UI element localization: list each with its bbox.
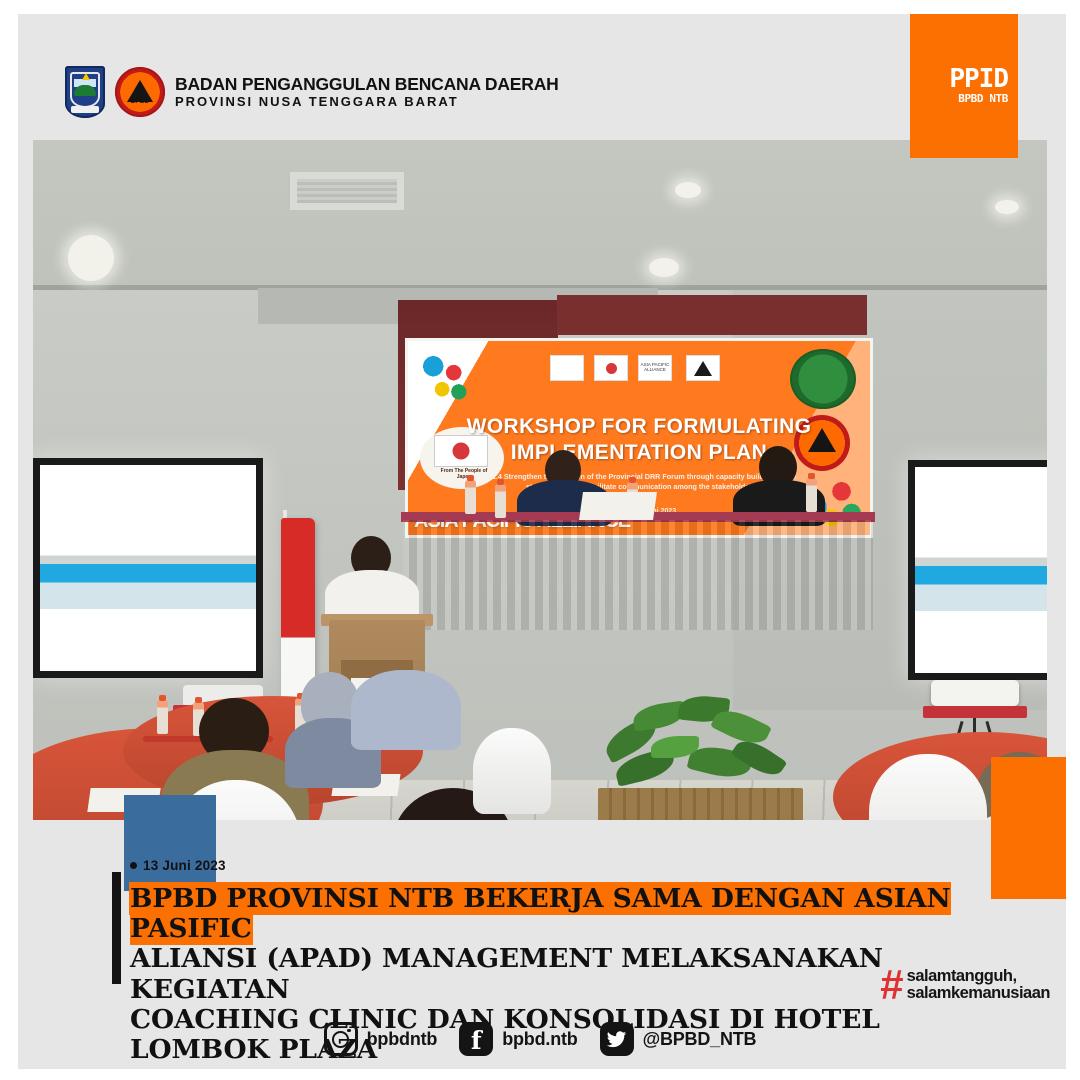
banner-logo-ntb-icon (550, 355, 584, 381)
social-twitter[interactable]: @BPBD_NTB (600, 1022, 757, 1056)
ceiling-light (68, 235, 114, 281)
water-bottle (157, 700, 168, 734)
facebook-handle: bpbd.ntb (502, 1029, 577, 1050)
banner-title-line2: IMPLEMENTATION PLAN (408, 441, 870, 465)
bpbd-logo-icon: BPBD (115, 67, 165, 117)
orange-accent-block (991, 757, 1066, 899)
banner-logo-bpbd-icon (686, 355, 720, 381)
banner-title-line1: WORKSHOP FOR FORMULATING (408, 415, 870, 439)
blue-accent-block (124, 795, 216, 891)
ceiling-light (649, 258, 679, 277)
projector-screen-right (908, 460, 1047, 680)
event-photo: ASIA PACIFIC ALLIANCE From The People of… (33, 140, 1047, 820)
ceiling-light (675, 182, 701, 198)
ppid-title: PPID (949, 66, 1008, 92)
caption-date-text: 13 Juni 2023 (143, 858, 226, 873)
bpbd-logo-label: BPBD (115, 99, 165, 105)
hashtag-text: salamtangguh, salamkemanusiaan (907, 968, 1050, 1002)
bullet-icon (130, 862, 137, 869)
social-facebook[interactable]: f bpbd.ntb (459, 1022, 577, 1056)
banner-logo-apad-icon: ASIA PACIFIC ALLIANCE (638, 355, 672, 381)
hashtag-line1: salamtangguh, (907, 968, 1050, 985)
plant-box (598, 788, 803, 820)
air-conditioner-vent (288, 170, 406, 212)
ppid-subtitle: BPBD NTB (958, 93, 1008, 104)
projector-screen-left (33, 458, 263, 678)
projector-stand-right (923, 706, 1027, 718)
head-table (403, 520, 873, 630)
ceiling-light (995, 200, 1019, 214)
hash-symbol-icon: # (880, 968, 901, 1002)
attendee-body (351, 670, 461, 750)
caption-date: 13 Juni 2023 (130, 858, 226, 873)
hashtag-line2: salamkemanusiaan (907, 985, 1050, 1002)
caption-title-line1: BPBD PROVINSI NTB BEKERJA SAMA DENGAN AS… (130, 883, 951, 944)
social-footer: bpbdntb f bpbd.ntb @BPBD_NTB (0, 1022, 1080, 1056)
twitter-handle: @BPBD_NTB (643, 1029, 757, 1050)
stage-curtain-top (557, 295, 867, 335)
org-name-line1: BADAN PENGANGGULAN BENCANA DAERAH (175, 75, 559, 94)
banner-swirl-left-icon (414, 347, 478, 411)
projector-right (931, 680, 1019, 706)
table-papers (579, 492, 657, 520)
water-bottle (465, 480, 476, 514)
campaign-hashtag: # salamtangguh, salamkemanusiaan (880, 968, 1050, 1002)
org-name-line2: PROVINSI NUSA TENGGARA BARAT (175, 95, 559, 109)
caption-accent-bar (112, 872, 121, 984)
instagram-handle: bpbdntb (367, 1029, 438, 1050)
banner-logo-japan-icon (594, 355, 628, 381)
water-bottle (495, 484, 506, 518)
ntb-provincial-emblem-icon (65, 66, 105, 118)
header-brand: BPBD BADAN PENGANGGULAN BENCANA DAERAH P… (65, 66, 559, 118)
twitter-icon[interactable] (600, 1022, 634, 1056)
caption-title-line2: ALIANSI (APAD) MANAGEMENT MELAKSANAKAN K… (130, 943, 883, 1004)
header-text-block: BADAN PENGANGGULAN BENCANA DAERAH PROVIN… (175, 75, 559, 109)
social-instagram[interactable]: bpbdntb (324, 1022, 438, 1056)
instagram-icon[interactable] (324, 1022, 358, 1056)
ppid-badge: PPID BPBD NTB (910, 14, 1018, 158)
banner-seal-ntb-icon (790, 349, 856, 409)
water-bottle (806, 478, 817, 512)
ceiling (33, 140, 1047, 290)
poster-root: BPBD BADAN PENGANGGULAN BENCANA DAERAH P… (0, 0, 1080, 1080)
facebook-icon[interactable]: f (459, 1022, 493, 1056)
chair-cover (473, 728, 551, 814)
